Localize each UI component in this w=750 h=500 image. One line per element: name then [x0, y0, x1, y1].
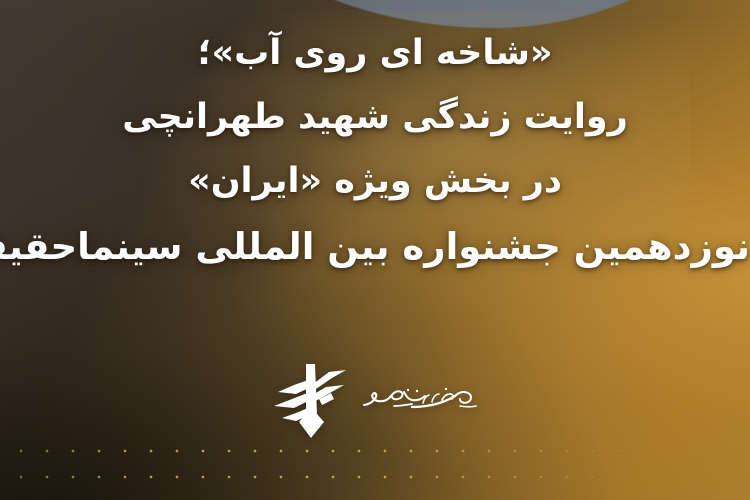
headline-line-1: «شاخه ای روی آب»؛ — [0, 36, 750, 71]
soureh-bird-emblem — [272, 358, 350, 444]
headline-block: «شاخه ای روی آب»؛ روایت زندگی شهید طهران… — [0, 36, 750, 265]
festival-banner: «شاخه ای روی آب»؛ روایت زندگی شهید طهران… — [0, 0, 750, 500]
markaz-mostanad-soureh-wordmark — [360, 379, 478, 423]
soureh-logo — [0, 358, 750, 444]
headline-line-3: در بخش ویژه «ایران» — [0, 164, 750, 199]
top-grey-arc — [150, 0, 750, 28]
headline-line-2: روایت زندگی شهید طهرانچی — [0, 100, 750, 135]
headline-line-4: نوزدهمین جشنواره بین المللی سینماحقیقت — [0, 228, 750, 265]
